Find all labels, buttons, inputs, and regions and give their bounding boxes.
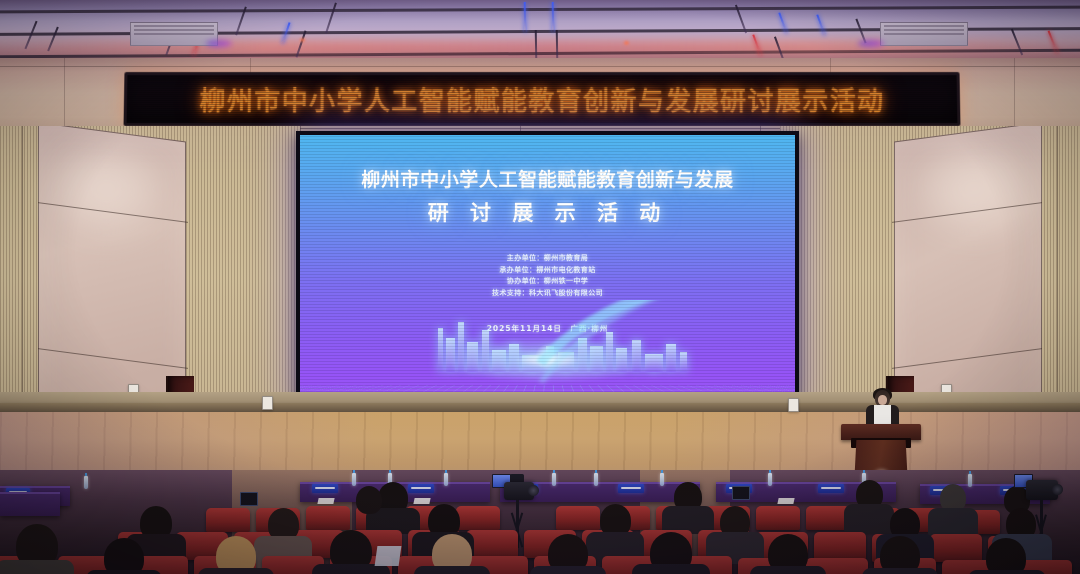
- audience-person: [844, 504, 894, 534]
- audience-person: [104, 538, 144, 574]
- audience-person: [198, 568, 274, 574]
- laptop: [240, 492, 258, 506]
- audience-person: [0, 560, 74, 574]
- ceiling-air-vent: [880, 22, 968, 46]
- water-bottle: [352, 473, 356, 486]
- stage-wall-outlet[interactable]: [262, 396, 273, 410]
- vent-light-glow: [206, 40, 232, 47]
- laptop: [732, 486, 750, 500]
- indicator-light: [624, 41, 629, 45]
- seat[interactable]: [930, 534, 982, 562]
- water-bottle: [84, 476, 88, 489]
- ceiling-light-bar-blue: [524, 2, 527, 32]
- ceiling-light-bar: [535, 30, 538, 60]
- slide-content: 柳州市中小学人工智能赋能教育创新与发展 研 讨 展 示 活 动 主办单位：柳州市…: [300, 135, 795, 410]
- water-bottle: [968, 474, 972, 487]
- speaker-face: [878, 395, 887, 405]
- name-placard: [408, 484, 434, 493]
- camera-lens: [1052, 484, 1063, 495]
- water-bottle: [660, 473, 664, 486]
- name-placard: [818, 484, 844, 493]
- led-scrolling-banner: 柳州市中小学人工智能赋能教育创新与发展研讨展示活动: [124, 72, 961, 126]
- water-bottle: [768, 473, 772, 486]
- seat[interactable]: [756, 506, 800, 530]
- slide-title-line1: 柳州市中小学人工智能赋能教育创新与发展: [300, 165, 795, 192]
- ceiling-beam-band: [0, 6, 1080, 14]
- name-placard: [618, 484, 644, 493]
- audience-person: [968, 570, 1046, 574]
- auditorium-scene: 柳州市中小学人工智能赋能教育创新与发展研讨展示活动: [0, 0, 1080, 574]
- led-banner-text: 柳州市中小学人工智能赋能教育创新与发展研讨展示活动: [199, 81, 885, 118]
- audience-person: [986, 538, 1026, 574]
- indicator-light: [300, 38, 305, 42]
- seat[interactable]: [306, 506, 350, 530]
- seat[interactable]: [206, 508, 250, 532]
- led-presentation-screen[interactable]: 柳州市中小学人工智能赋能教育创新与发展 研 讨 展 示 活 动 主办单位：柳州市…: [296, 131, 799, 414]
- handout-paper: [375, 546, 402, 566]
- seat[interactable]: [814, 532, 866, 560]
- audience-person: [530, 566, 606, 574]
- slide-organizer-list: 主办单位：柳州市教育局 承办单位：柳州市电化教育站 协办单位：柳州铁一中学 技术…: [300, 253, 795, 299]
- organizer-line: 主办单位：柳州市教育局: [300, 253, 795, 265]
- ceiling-light-bar-blue: [816, 14, 825, 35]
- water-bottle: [444, 473, 448, 486]
- vent-light-glow: [858, 40, 884, 47]
- organizer-line: 协办单位：柳州铁一中学: [300, 276, 795, 288]
- ceiling-air-vent: [130, 22, 218, 46]
- wall-light-glow: [46, 144, 166, 234]
- audience-person: [86, 570, 162, 574]
- wall-light-glow: [914, 144, 1034, 234]
- stage-wall-outlet[interactable]: [788, 398, 799, 412]
- audience-person: [414, 566, 490, 574]
- document-paper: [317, 498, 334, 504]
- audience-person: [862, 568, 938, 574]
- organizer-line: 承办单位：柳州市电化教育站: [300, 265, 795, 277]
- name-placard: [312, 484, 338, 493]
- audience-person: [750, 566, 826, 574]
- audience-person: [928, 508, 978, 536]
- ceiling-light-bar: [325, 2, 337, 33]
- ceiling-light-bar-blue: [552, 2, 555, 32]
- water-bottle: [552, 473, 556, 486]
- audience-person: [356, 486, 382, 514]
- ceiling: [0, 0, 1080, 62]
- water-bottle: [594, 473, 598, 486]
- document-paper: [777, 498, 794, 504]
- camera-lens: [528, 485, 539, 496]
- ceiling-light-bar: [556, 30, 559, 60]
- table-row: [0, 492, 60, 516]
- seat[interactable]: [556, 506, 600, 530]
- audience-person: [632, 564, 710, 574]
- document-paper: [413, 498, 430, 504]
- slide-title-line2: 研 讨 展 示 活 动: [300, 197, 795, 227]
- organizer-line: 技术支持：科大讯飞股份有限公司: [300, 288, 795, 300]
